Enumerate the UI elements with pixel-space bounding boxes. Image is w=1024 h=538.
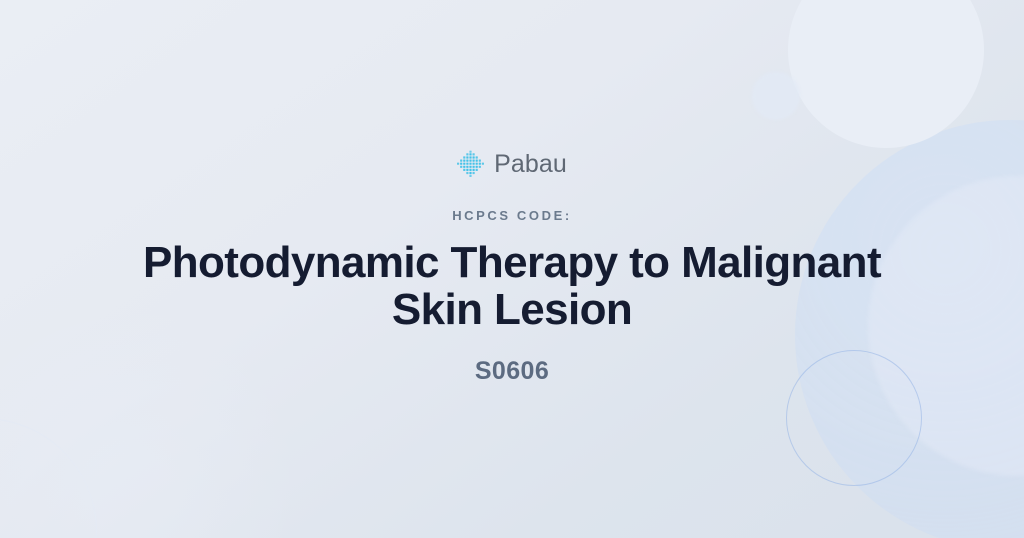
page-title: Photodynamic Therapy to Malignant Skin L… <box>132 240 892 332</box>
hero-banner: Pabau HCPCS CODE: Photodynamic Therapy t… <box>0 0 1024 538</box>
pabau-logo-lockup[interactable]: Pabau <box>457 150 567 178</box>
code-type-eyebrow: HCPCS CODE: <box>452 208 572 223</box>
code-value: S0606 <box>475 357 549 386</box>
pabau-wordmark: Pabau <box>494 152 567 177</box>
hero-content: Pabau HCPCS CODE: Photodynamic Therapy t… <box>0 0 1024 538</box>
pabau-diamond-logo-icon <box>457 150 485 178</box>
